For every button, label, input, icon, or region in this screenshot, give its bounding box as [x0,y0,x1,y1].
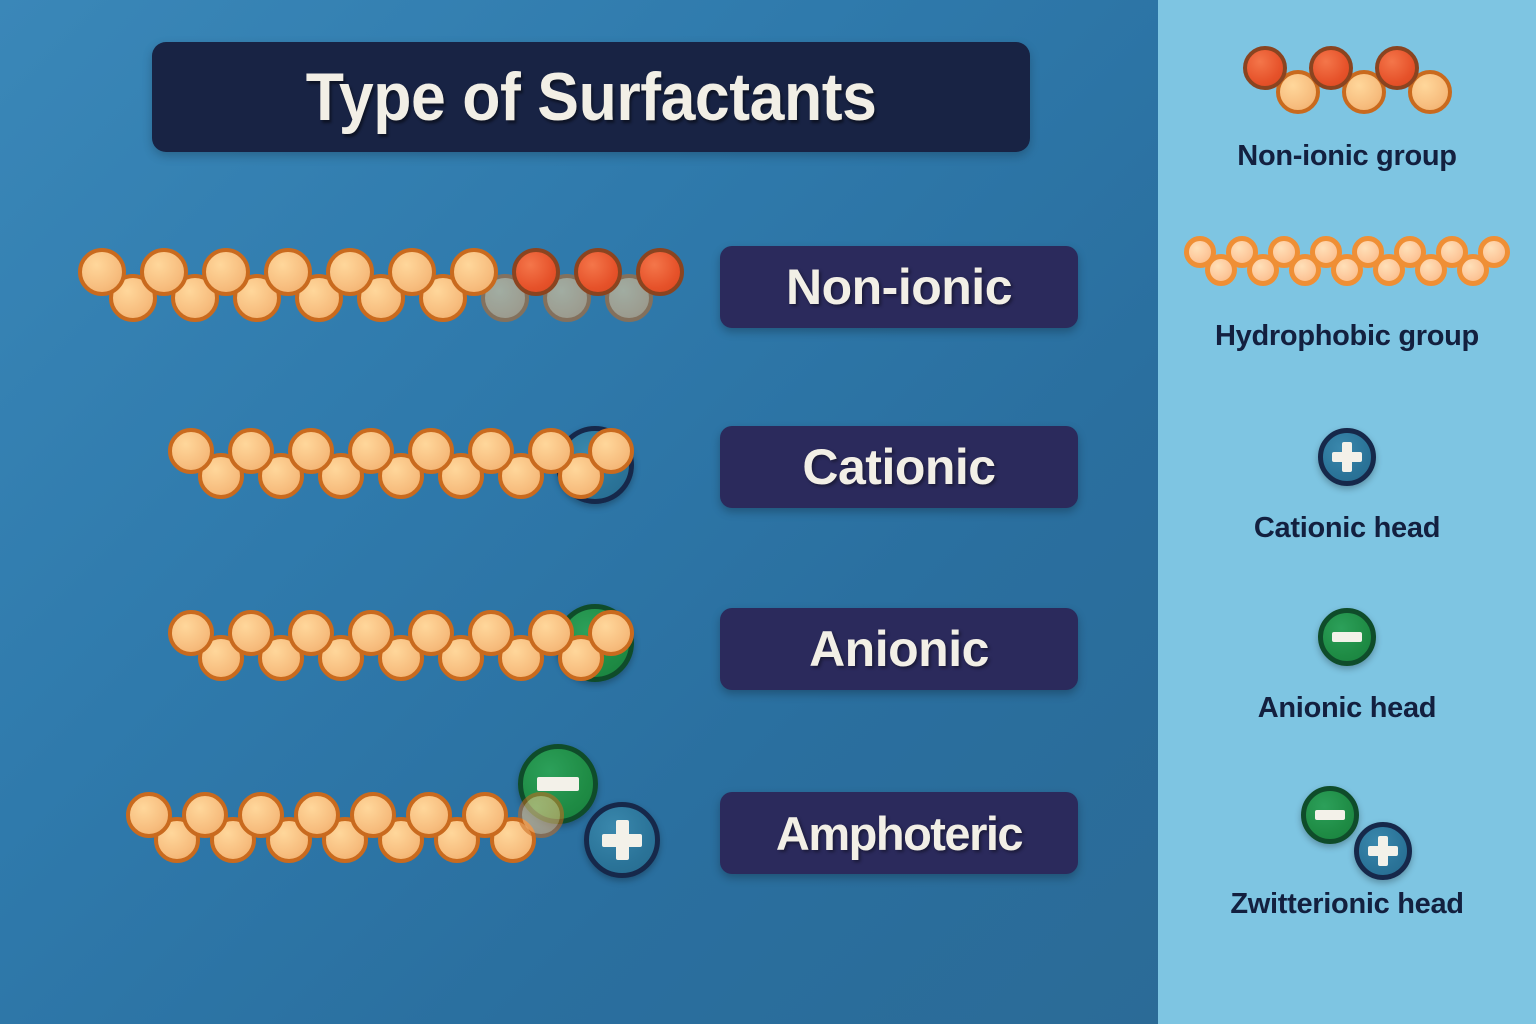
legend-label-zwitterionic-head: Zwitterionic head [1158,888,1536,921]
molecule-bead [462,792,508,838]
legend-art-non-ionic-group [1158,46,1536,118]
plus-symbol-vertical [616,820,629,860]
molecule-bead [202,248,250,296]
molecule-bead [408,428,454,474]
legend-item-anionic-head: Anionic head [1158,608,1536,725]
legend-bead [1309,46,1353,90]
minus-symbol [537,777,579,791]
category-label-amphoteric: Amphoteric [776,806,1022,861]
legend-label-cationic-head: Cationic head [1158,512,1536,545]
category-label-non-ionic: Non-ionic [786,258,1012,316]
molecule-bead [574,248,622,296]
legend-item-cationic-head: Cationic head [1158,428,1536,545]
legend-cationic-head-icon [1354,822,1412,880]
molecule-bead [528,428,574,474]
category-label-cationic: Cationic [802,438,995,496]
molecule-bead [528,610,574,656]
zwitterionic-plus-head-icon [584,802,660,878]
molecule-bead [636,248,684,296]
legend-bead [1184,236,1216,268]
molecule-chain-cationic [168,428,638,508]
legend-item-non-ionic-group: Non-ionic group [1158,46,1536,173]
category-label-anionic: Anionic [809,620,989,678]
molecule-bead [288,428,334,474]
legend-bead [1268,236,1300,268]
molecule-bead [512,248,560,296]
molecule-bead [588,428,634,474]
molecule-bead [78,248,126,296]
legend-label-non-ionic-group: Non-ionic group [1158,140,1536,173]
molecule-bead [468,610,514,656]
category-box-amphoteric[interactable]: Amphoteric [720,792,1078,874]
minus-symbol [1332,632,1362,642]
molecule-bead [588,610,634,656]
legend-art-cationic-head [1158,428,1536,490]
legend-art-anionic-head [1158,608,1536,670]
molecule-bead [228,428,274,474]
legend-item-hydrophobic-group: Hydrophobic group [1158,236,1536,353]
legend-anionic-head-icon [1301,786,1359,844]
molecule-bead [264,248,312,296]
legend-label-anionic-head: Anionic head [1158,692,1536,725]
molecule-chain-non-ionic [78,248,678,328]
molecule-bead [350,792,396,838]
molecule-bead [348,610,394,656]
infographic-canvas: Type of Surfactants Non-ionic Cationic A… [0,0,1536,1024]
molecule-bead [294,792,340,838]
legend-bead [1352,236,1384,268]
legend-label-hydrophobic-group: Hydrophobic group [1158,320,1536,353]
molecule-bead [468,428,514,474]
molecule-bead [408,610,454,656]
molecule-chain-amphoteric [126,792,546,872]
category-box-non-ionic[interactable]: Non-ionic [720,246,1078,328]
molecule-bead [288,610,334,656]
molecule-bead [228,610,274,656]
molecule-bead [406,792,452,838]
legend-cationic-head-icon [1318,428,1376,486]
minus-symbol [1315,810,1345,820]
legend-art-hydrophobic-group [1158,236,1536,298]
molecule-bead [388,248,436,296]
molecule-bead [182,792,228,838]
molecule-bead [126,792,172,838]
molecule-bead [518,792,564,838]
molecule-bead [348,428,394,474]
molecule-bead [168,610,214,656]
legend-bead [1226,236,1258,268]
title-banner: Type of Surfactants [152,42,1030,152]
molecule-bead [326,248,374,296]
legend-bead [1436,236,1468,268]
plus-symbol-vertical [1342,442,1352,472]
molecule-bead [238,792,284,838]
molecule-bead [450,248,498,296]
legend-bead [1375,46,1419,90]
molecule-bead [140,248,188,296]
molecule-bead [168,428,214,474]
page-title: Type of Surfactants [306,58,877,136]
legend-bead [1478,236,1510,268]
molecule-chain-anionic [168,610,638,690]
category-box-cationic[interactable]: Cationic [720,426,1078,508]
category-box-anionic[interactable]: Anionic [720,608,1078,690]
legend-item-zwitterionic-head: Zwitterionic head [1158,786,1536,921]
legend-anionic-head-icon [1318,608,1376,666]
legend-bead [1243,46,1287,90]
legend-art-zwitterionic-head [1158,786,1536,878]
legend-bead [1310,236,1342,268]
plus-symbol-vertical [1378,836,1388,866]
legend-bead [1394,236,1426,268]
